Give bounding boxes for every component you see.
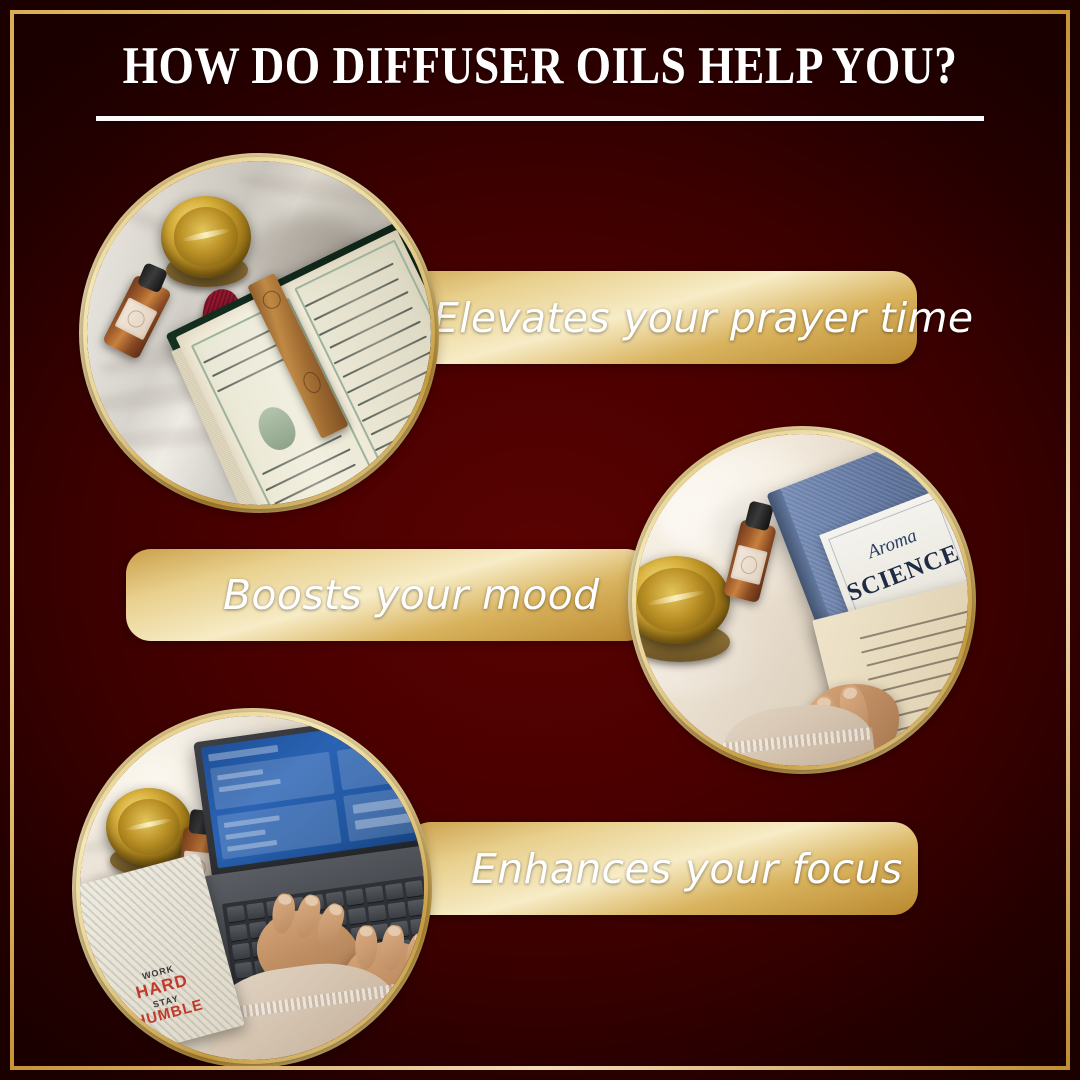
title-block: HOW DO DIFFUSER OILS HELP YOU?: [0, 40, 1080, 121]
benefit-photo-mood[interactable]: Aroma SCIENCE: [632, 430, 972, 770]
benefit-banner-focus[interactable]: Enhances your focus: [406, 822, 918, 915]
benefit-photo-focus[interactable]: WORK HARD STAY HUMBLE: [76, 712, 428, 1064]
benefit-banner-prayer[interactable]: Elevates your prayer time: [355, 271, 917, 364]
title-underline-rule: [96, 116, 984, 121]
scene-prayer: [87, 161, 431, 505]
benefit-photo-prayer[interactable]: [83, 157, 435, 509]
brass-diffuser-bowl: [161, 196, 251, 278]
photo-inner-focus: WORK HARD STAY HUMBLE: [80, 716, 424, 1060]
scene-mood: Aroma SCIENCE: [636, 434, 968, 766]
laptop-screen: [201, 716, 424, 868]
photo-inner-prayer: [87, 161, 431, 505]
benefit-banner-mood[interactable]: Boosts your mood: [126, 549, 651, 641]
benefit-label-mood: Boosts your mood: [223, 571, 599, 619]
page-title: HOW DO DIFFUSER OILS HELP YOU?: [76, 40, 1005, 93]
brass-diffuser-bowl: [106, 788, 192, 866]
scene-focus: WORK HARD STAY HUMBLE: [80, 716, 424, 1060]
benefit-label-focus: Enhances your focus: [471, 845, 902, 893]
benefit-label-prayer: Elevates your prayer time: [433, 294, 973, 342]
photo-inner-mood: Aroma SCIENCE: [636, 434, 968, 766]
poster-canvas: HOW DO DIFFUSER OILS HELP YOU? Elevates …: [0, 0, 1080, 1080]
